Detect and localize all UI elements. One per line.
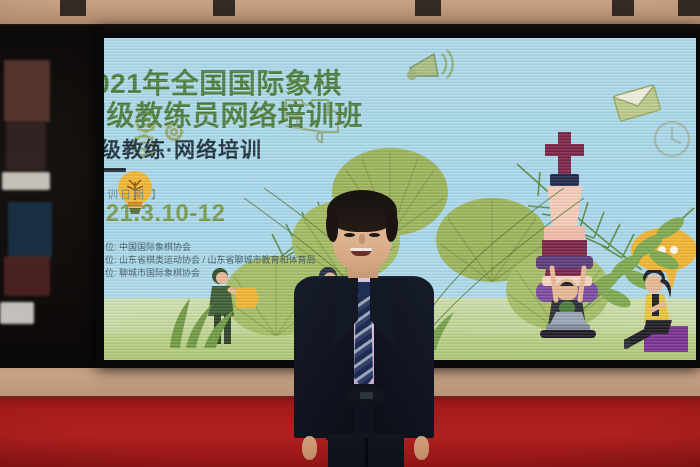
event-photo-scene: 2021年全国国际象棋 初级教练员网络培训班 初级教练·网络培训 【 培训日期 … bbox=[0, 0, 700, 467]
wall-panel bbox=[415, 0, 441, 16]
belt-buckle bbox=[360, 392, 373, 399]
wall-panel bbox=[213, 0, 235, 16]
eye-right bbox=[369, 233, 380, 237]
trouser-seam bbox=[365, 438, 368, 467]
wall-reflection bbox=[4, 256, 50, 296]
wall-reflection bbox=[4, 60, 50, 122]
nose bbox=[359, 234, 365, 244]
eyebrow-right bbox=[367, 226, 382, 229]
hair-side-left bbox=[326, 212, 338, 242]
hand-left bbox=[302, 436, 317, 460]
wall-reflection bbox=[8, 202, 52, 258]
organizer-line: 承办单位: 聊城市国际象棋协会 bbox=[104, 267, 316, 280]
organizer-line: 主办单位: 中国国际象棋协会 bbox=[104, 241, 316, 254]
wall-sign bbox=[0, 302, 34, 324]
slide-title-line2: 初级教练员网络培训班 bbox=[104, 94, 363, 134]
wall-panel bbox=[60, 0, 86, 16]
date-value: 2021.3.10-12 bbox=[104, 200, 225, 228]
eyebrow-left bbox=[342, 226, 357, 229]
wall-reflection bbox=[6, 122, 46, 170]
slide-subtitle: 初级教练·网络培训 bbox=[104, 134, 262, 164]
hair-side-right bbox=[386, 212, 398, 242]
divider-rule bbox=[104, 168, 126, 172]
left-dark-wing bbox=[0, 26, 104, 368]
hand-right bbox=[414, 436, 429, 460]
presenter-figure bbox=[286, 186, 442, 467]
organizer-line: 支持单位: 山东省棋类运动协会 / 山东省聊城市教育和体育局 bbox=[104, 254, 316, 267]
wall-panel bbox=[612, 0, 634, 16]
upper-wall bbox=[0, 0, 700, 26]
organizer-list: 主办单位: 中国国际象棋协会 支持单位: 山东省棋类运动协会 / 山东省聊城市教… bbox=[104, 241, 316, 280]
eye-left bbox=[344, 233, 355, 237]
wall-sign bbox=[2, 172, 50, 190]
wall-panel bbox=[678, 0, 700, 16]
